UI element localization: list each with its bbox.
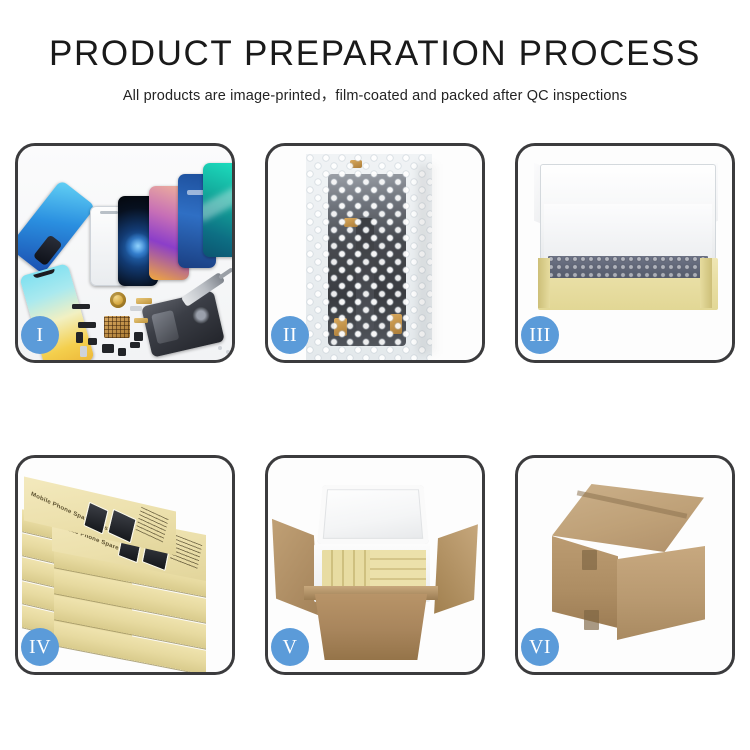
part-camera-module bbox=[118, 348, 126, 356]
part-flex-strip bbox=[134, 318, 148, 323]
step-badge: VI bbox=[521, 628, 559, 666]
page-title: PRODUCT PREPARATION PROCESS bbox=[0, 36, 750, 73]
carton-flap-right bbox=[434, 524, 478, 614]
tape-strip-upper bbox=[582, 550, 597, 570]
process-row-2: Mobile Phone Spare Parts Mobile Phone Sp… bbox=[0, 455, 750, 675]
process-step-5[interactable]: V bbox=[265, 455, 485, 675]
box-side-left bbox=[538, 258, 550, 308]
foam-lid-icon bbox=[317, 485, 429, 544]
box-window-right bbox=[107, 509, 136, 544]
process-grid: I II bbox=[0, 143, 750, 675]
gold-coil-part-icon bbox=[110, 292, 126, 308]
part-chip bbox=[72, 304, 90, 309]
part-flex-cable bbox=[78, 322, 96, 328]
copper-mesh-part-icon bbox=[104, 316, 130, 338]
process-step-1[interactable]: I bbox=[15, 143, 235, 363]
process-step-6[interactable]: VI bbox=[515, 455, 735, 675]
process-step-4[interactable]: Mobile Phone Spare Parts Mobile Phone Sp… bbox=[15, 455, 235, 675]
step-badge: V bbox=[271, 628, 309, 666]
part-connector-b bbox=[88, 338, 97, 345]
part-flex-gold bbox=[136, 298, 152, 304]
foam-sheet-icon bbox=[544, 204, 712, 262]
part-bracket bbox=[130, 306, 142, 311]
page-subtitle: All products are image-printed，film-coat… bbox=[0, 84, 750, 105]
step-badge: I bbox=[21, 316, 59, 354]
page-header: PRODUCT PREPARATION PROCESS All products… bbox=[0, 0, 750, 105]
step-badge: III bbox=[521, 316, 559, 354]
bubble-wrap-bag-icon bbox=[306, 154, 432, 360]
carton-front-panel bbox=[310, 594, 432, 660]
bubble-wrap-fill-icon bbox=[548, 256, 708, 278]
step-badge: IV bbox=[21, 628, 59, 666]
bag-shadow bbox=[418, 164, 440, 354]
step-badge: II bbox=[271, 316, 309, 354]
part-speaker bbox=[102, 344, 114, 353]
phone-screen-teal-icon bbox=[203, 163, 232, 257]
part-button-set bbox=[130, 342, 140, 348]
part-connector-a bbox=[76, 332, 83, 343]
bubble-texture bbox=[306, 154, 432, 360]
process-row-1: I II bbox=[0, 143, 750, 363]
part-screw-a bbox=[218, 346, 222, 350]
process-step-3[interactable]: III bbox=[515, 143, 735, 363]
tape-strip-lower bbox=[584, 610, 599, 630]
part-screw-b bbox=[226, 350, 230, 354]
box-side-right bbox=[700, 258, 712, 308]
process-step-2[interactable]: II bbox=[265, 143, 485, 363]
part-sim-tray bbox=[80, 346, 87, 357]
part-vibrator bbox=[134, 332, 143, 341]
box-spec-lines bbox=[135, 507, 168, 544]
